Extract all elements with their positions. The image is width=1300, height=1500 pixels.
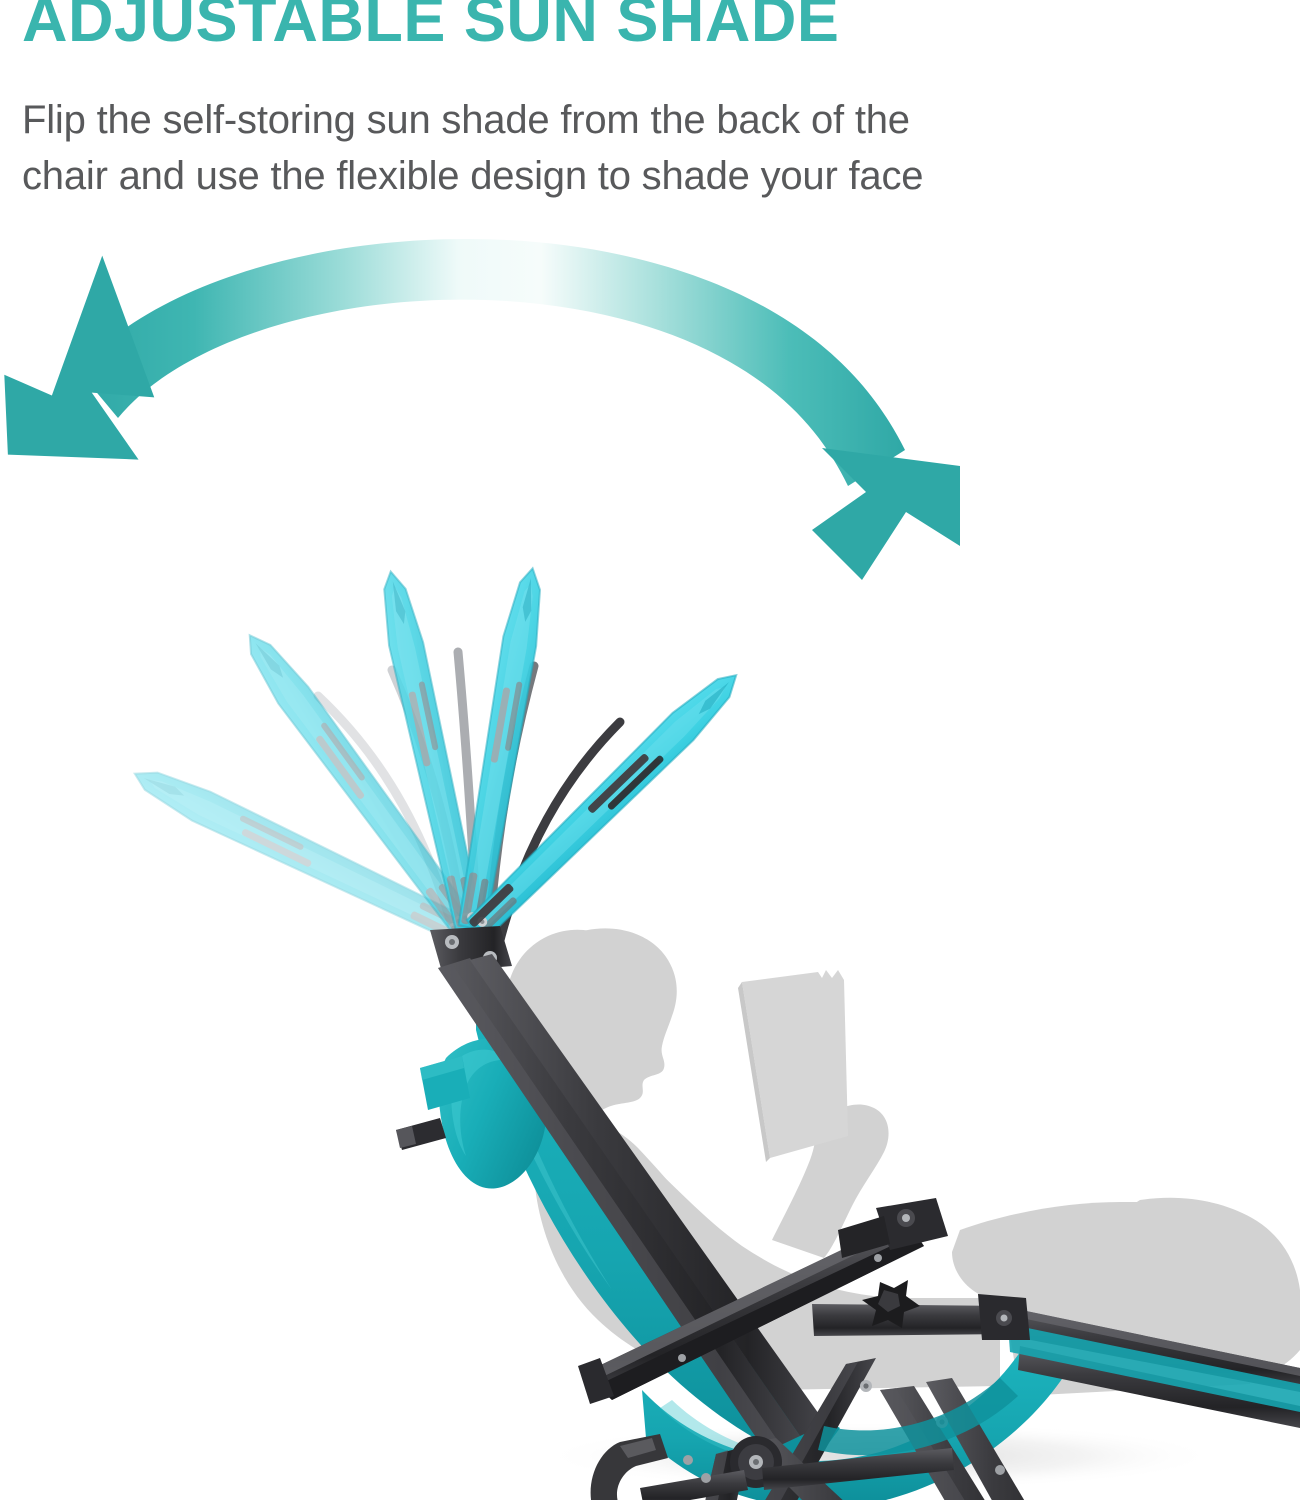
- subtitle-line-2: chair and use the flexible design to sha…: [22, 148, 1272, 204]
- product-feature-callout: ADJUSTABLE SUN SHADE Flip the self-stori…: [0, 0, 1300, 1500]
- subtitle-line-1: Flip the self-storing sun shade from the…: [22, 92, 1272, 148]
- sun-shade-canopy: [127, 565, 748, 949]
- header: ADJUSTABLE SUN SHADE Flip the self-stori…: [0, 0, 1300, 215]
- sweep-arrow-icon: [0, 239, 960, 580]
- product-illustration: [0, 200, 1300, 1500]
- illustration-svg: [0, 200, 1300, 1500]
- page-title: ADJUSTABLE SUN SHADE: [22, 0, 839, 56]
- page-subtitle: Flip the self-storing sun shade from the…: [22, 92, 1272, 204]
